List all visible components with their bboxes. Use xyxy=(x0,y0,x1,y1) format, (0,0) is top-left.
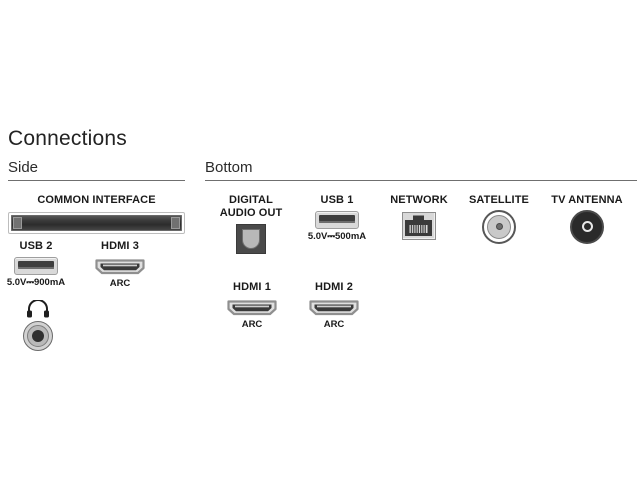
rj45-ethernet-icon xyxy=(402,212,436,240)
section-rule-bottom xyxy=(205,180,637,181)
port-group-digital-audio-out: DIGITAL AUDIO OUT xyxy=(207,194,295,254)
port-label-digital-audio-out: DIGITAL AUDIO OUT xyxy=(207,194,295,219)
coax-antenna-icon xyxy=(570,210,604,244)
port-sub-hdmi3: ARC xyxy=(84,278,156,289)
port-label-tv-antenna: TV ANTENNA xyxy=(538,194,636,207)
port-group-usb2: USB 2 5.0V⎓900mA xyxy=(5,240,67,288)
rj45-ethernet-shape xyxy=(403,213,434,238)
usb-port-slot xyxy=(18,261,54,269)
usb-port-slot xyxy=(319,215,355,223)
port-group-satellite: SATELLITE xyxy=(459,194,539,244)
port-sub-usb2: 5.0V⎓900mA xyxy=(5,277,67,288)
port-sub-usb1: 5.0V⎓500mA xyxy=(297,231,377,242)
optical-toslink-icon xyxy=(236,224,266,254)
headphone-jack-icon xyxy=(23,321,53,351)
port-label-usb1: USB 1 xyxy=(297,194,377,207)
port-label-satellite: SATELLITE xyxy=(459,194,539,207)
section-heading-side: Side xyxy=(8,160,38,175)
page-title: Connections xyxy=(8,128,127,149)
ci-slot-icon xyxy=(8,212,185,234)
optical-toslink-inner xyxy=(242,229,260,249)
ci-slot-inner xyxy=(11,215,182,231)
port-group-tv-antenna: TV ANTENNA xyxy=(538,194,636,244)
port-label-hdmi3: HDMI 3 xyxy=(84,240,156,253)
port-group-network: NETWORK xyxy=(379,194,459,240)
port-sub-hdmi2: ARC xyxy=(298,319,370,330)
port-group-hdmi3: HDMI 3 ARC xyxy=(84,240,156,289)
section-heading-bottom: Bottom xyxy=(205,160,253,175)
hdmi-port-shape xyxy=(308,298,360,317)
hdmi-port-shape xyxy=(226,298,278,317)
port-label-usb2: USB 2 xyxy=(5,240,67,253)
usb-port-icon xyxy=(14,257,58,275)
port-group-hdmi2: HDMI 2 ARC xyxy=(298,281,370,330)
port-label-hdmi1: HDMI 1 xyxy=(216,281,288,294)
hdmi-port-shape xyxy=(94,257,146,276)
hdmi-port-icon xyxy=(94,257,146,276)
coax-f-connector-core xyxy=(496,223,503,230)
port-group-hdmi1: HDMI 1 ARC xyxy=(216,281,288,330)
coax-antenna-core xyxy=(582,221,593,232)
ci-slot-tab-right xyxy=(171,217,180,229)
hdmi-port-icon xyxy=(308,298,360,317)
ci-slot-tab-left xyxy=(13,217,22,229)
headphone-icon xyxy=(25,300,51,318)
port-group-headphone xyxy=(8,300,68,351)
port-label-hdmi2: HDMI 2 xyxy=(298,281,370,294)
port-group-usb1: USB 1 5.0V⎓500mA xyxy=(297,194,377,242)
port-label-network: NETWORK xyxy=(379,194,459,207)
headphone-icon-shape xyxy=(25,300,51,318)
headphone-jack-core xyxy=(32,330,44,342)
coax-f-connector-icon xyxy=(482,210,516,244)
usb-port-icon xyxy=(315,211,359,229)
port-group-common-interface: COMMON INTERFACE xyxy=(8,194,185,234)
hdmi-port-icon xyxy=(226,298,278,317)
port-sub-hdmi1: ARC xyxy=(216,319,288,330)
section-rule-side xyxy=(8,180,185,181)
connections-diagram: Connections Side COMMON INTERFACE USB 2 … xyxy=(0,0,640,480)
port-label-common-interface: COMMON INTERFACE xyxy=(8,194,185,207)
